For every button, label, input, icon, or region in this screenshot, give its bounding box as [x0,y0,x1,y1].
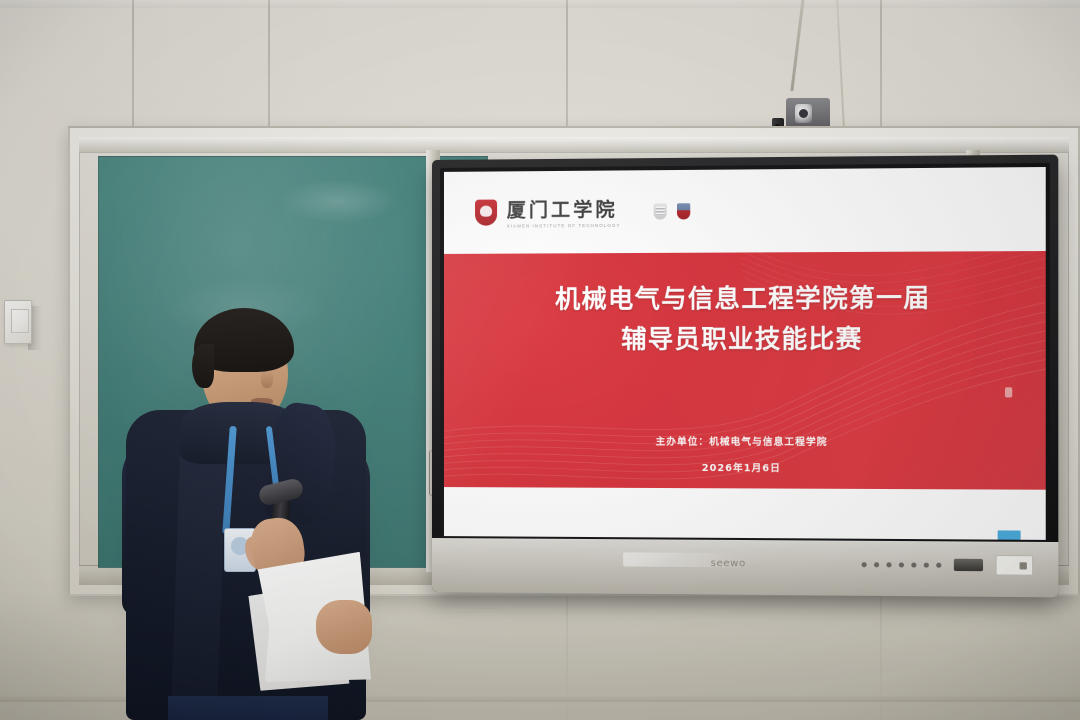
presenter-trousers [168,696,328,720]
camera-lens-icon [795,104,812,123]
slide-date: 2026年1月6日 [444,459,1046,475]
slide-title: 机械电气与信息工程学院第一届 辅导员职业技能比赛 [444,277,1046,360]
interactive-flat-panel[interactable]: 厦门工学院 XIAMEN INSTITUTE OF TECHNOLOGY [432,155,1058,598]
slide-logo-bar: 厦门工学院 XIAMEN INSTITUTE OF TECHNOLOGY [444,167,1046,254]
secondary-emblem-icon [653,203,666,219]
panel-key[interactable] [899,562,904,567]
slide-footer-band [444,487,1046,540]
panel-control-buttons[interactable] [862,562,942,568]
panel-key[interactable] [936,563,941,568]
slide-title-line-1: 机械电气与信息工程学院第一届 [444,277,1046,320]
tertiary-emblem-icon [676,203,689,219]
light-switch[interactable] [4,300,32,344]
presenter-hair-side [192,344,214,388]
panel-key[interactable] [874,562,879,567]
wall-top-band [0,0,1080,8]
panel-blue-sticker [998,530,1021,539]
slide-red-panel: 机械电气与信息工程学院第一届 辅导员职业技能比赛 主办单位：机械电气与信息工程学… [444,251,1046,490]
presenter-nose [261,370,273,388]
presenter [120,300,410,720]
panel-screen[interactable]: 厦门工学院 XIAMEN INSTITUTE OF TECHNOLOGY [444,167,1046,540]
panel-key[interactable] [911,563,916,568]
classroom-scene: 厦门工学院 XIAMEN INSTITUTE OF TECHNOLOGY [0,0,1080,720]
panel-usb-port[interactable] [954,559,983,571]
panel-key[interactable] [886,562,891,567]
chalk-smudge [279,179,399,223]
university-wordmark: 厦门工学院 XIAMEN INSTITUTE OF TECHNOLOGY [507,195,621,229]
presenter-hand-holding-papers [316,600,372,654]
presentation-slide: 厦门工学院 XIAMEN INSTITUTE OF TECHNOLOGY [444,167,1046,540]
slide-organizer: 主办单位：机械电气与信息工程学院 [444,433,1046,449]
panel-key[interactable] [862,562,867,567]
blackboard-slide-track-top [79,137,1069,153]
university-name-en: XIAMEN INSTITUTE OF TECHNOLOGY [507,223,621,229]
panel-brand-logo: seewo [711,558,746,569]
university-shield-icon [475,199,497,225]
panel-asset-label [996,555,1034,576]
panel-key[interactable] [924,563,929,568]
screen-indicator-dot [1005,387,1012,397]
panel-chin-bar: seewo [432,538,1058,597]
slide-title-line-2: 辅导员职业技能比赛 [444,319,1046,361]
university-name-cn: 厦门工学院 [507,195,621,223]
panel-bezel: 厦门工学院 XIAMEN INSTITUTE OF TECHNOLOGY [440,163,1050,544]
